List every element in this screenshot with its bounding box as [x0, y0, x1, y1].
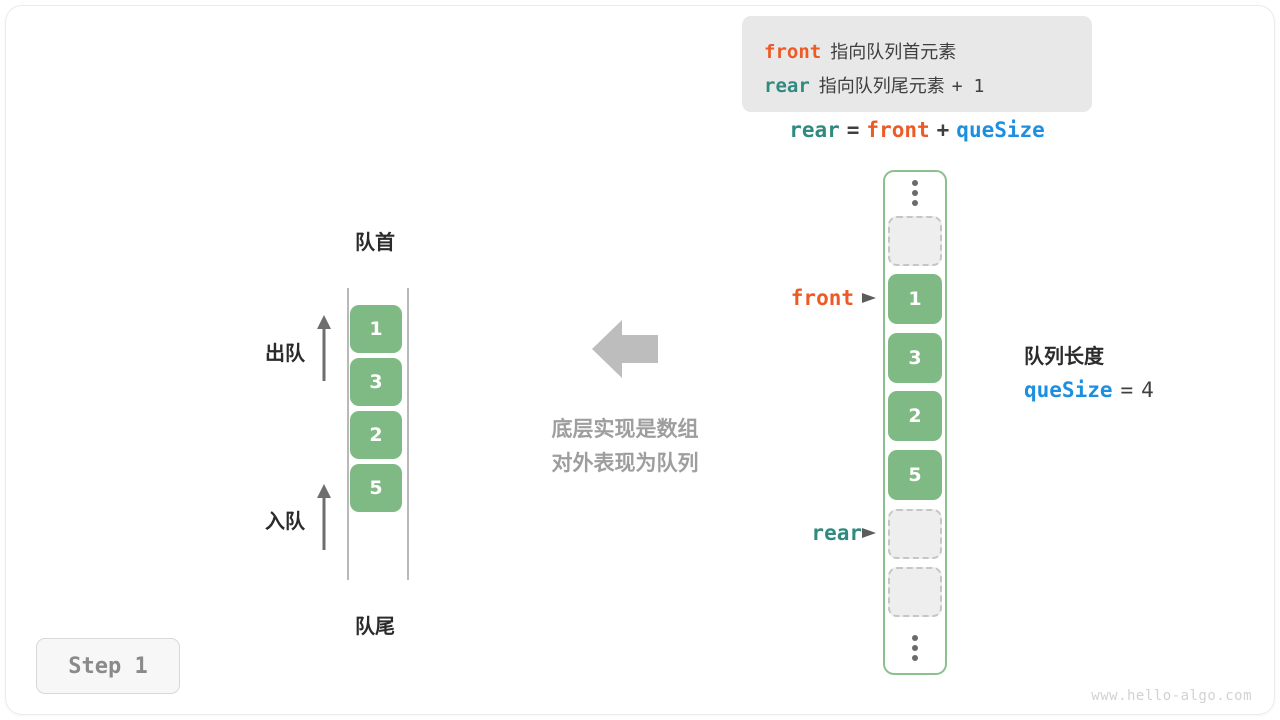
front-pointer-label: front — [744, 286, 854, 310]
queue-cell: 3 — [350, 358, 402, 406]
formula-equals: = — [847, 118, 860, 142]
array-slot-empty — [888, 509, 942, 559]
maps-to-arrow-icon — [592, 318, 658, 380]
queue-rail-right — [407, 288, 409, 580]
formula-plus: + — [937, 118, 950, 142]
queue-rail-left — [347, 288, 349, 580]
step-badge: Step 1 — [36, 638, 180, 694]
formula-rear: rear — [789, 118, 840, 142]
quesize-equals: = — [1121, 378, 1134, 402]
array-slot-empty — [888, 567, 942, 617]
rear-plus-one: + 1 — [952, 76, 985, 97]
rear-formula: rear=front+queSize — [742, 118, 1092, 142]
queue-cell: 1 — [350, 305, 402, 353]
front-pointer-caret-icon — [862, 291, 878, 305]
rear-pointer-label: rear — [752, 521, 862, 545]
watermark: www.hello-algo.com — [1091, 688, 1252, 704]
legend-line-front: front指向队列首元素 — [764, 38, 956, 64]
center-caption-line2: 对外表现为队列 — [500, 446, 750, 480]
queue-size-note: 队列长度 queSize=4 — [1024, 340, 1254, 402]
queue-tail-label: 队尾 — [300, 610, 450, 639]
array-ellipsis-top — [888, 176, 942, 210]
array-slot-filled: 1 — [888, 274, 942, 324]
queue-cell: 5 — [350, 464, 402, 512]
array-slot-filled: 3 — [888, 333, 942, 383]
front-description: 指向队列首元素 — [830, 42, 956, 63]
diagram-canvas: front指向队列首元素 rear指向队列尾元素+ 1 rear=front+q… — [0, 0, 1280, 720]
pointer-legend-box: front指向队列首元素 rear指向队列尾元素+ 1 — [742, 16, 1092, 112]
queue-size-label: 队列长度 — [1024, 340, 1254, 369]
enqueue-arrow-icon — [316, 484, 332, 550]
enqueue-label: 入队 — [215, 505, 305, 534]
array-slot-filled: 5 — [888, 450, 942, 500]
array-slot-filled: 2 — [888, 391, 942, 441]
dequeue-label: 出队 — [215, 337, 305, 366]
formula-quesize: queSize — [956, 118, 1045, 142]
front-keyword: front — [764, 41, 821, 63]
rear-description: 指向队列尾元素 — [819, 76, 945, 97]
legend-line-rear: rear指向队列尾元素+ 1 — [764, 72, 984, 98]
rear-pointer-caret-icon — [862, 526, 878, 540]
array-slot-empty — [888, 216, 942, 266]
quesize-name: queSize — [1024, 378, 1113, 402]
queue-head-label: 队首 — [300, 226, 450, 255]
dequeue-arrow-icon — [316, 315, 332, 381]
center-caption: 底层实现是数组 对外表现为队列 — [500, 412, 750, 480]
array-ellipsis-bottom — [888, 631, 942, 665]
center-caption-line1: 底层实现是数组 — [500, 412, 750, 446]
queue-cell: 2 — [350, 411, 402, 459]
queue-size-expression: queSize=4 — [1024, 378, 1254, 402]
formula-front: front — [866, 118, 929, 142]
rear-keyword: rear — [764, 75, 810, 97]
quesize-value: 4 — [1141, 378, 1154, 402]
